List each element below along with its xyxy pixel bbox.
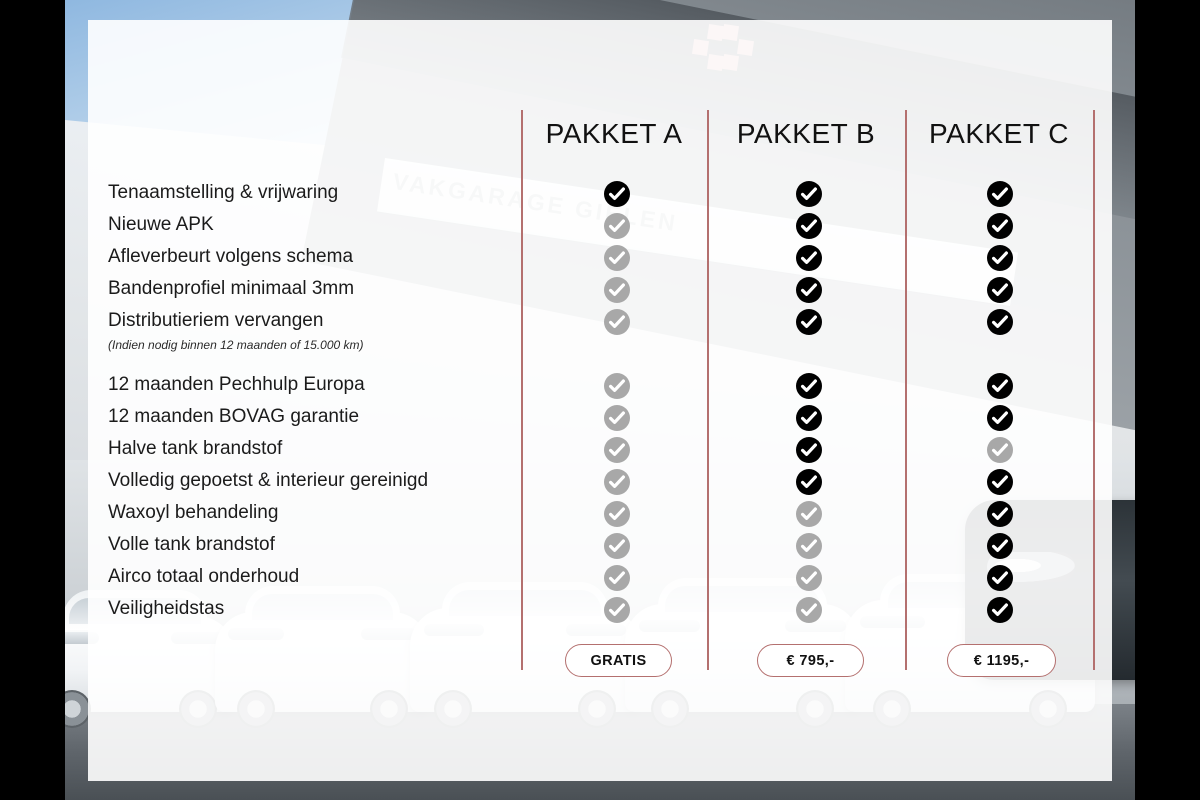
column-divider-4 xyxy=(1093,110,1095,670)
check-circle-icon xyxy=(604,373,630,399)
feature-label: 12 maanden Pechhulp Europa xyxy=(108,374,365,396)
feature-label: Waxoyl behandeling xyxy=(108,502,278,524)
check-circle-icon xyxy=(796,437,822,463)
feature-note: (Indien nodig binnen 12 maanden of 15.00… xyxy=(108,338,364,352)
check-circle-icon xyxy=(987,437,1013,463)
column-divider-3 xyxy=(905,110,907,670)
feature-label: Airco totaal onderhoud xyxy=(108,566,299,588)
feature-label: Veiligheidstas xyxy=(108,598,224,620)
feature-label: Nieuwe APK xyxy=(108,214,214,236)
check-circle-icon xyxy=(987,277,1013,303)
check-circle-icon xyxy=(987,533,1013,559)
letterbox-bar-left xyxy=(0,0,65,800)
check-circle-icon xyxy=(796,597,822,623)
feature-label: Afleverbeurt volgens schema xyxy=(108,246,353,268)
price-pill-b[interactable]: € 795,- xyxy=(757,644,864,677)
check-circle-icon xyxy=(796,277,822,303)
check-circle-icon xyxy=(796,213,822,239)
check-circle-icon xyxy=(987,181,1013,207)
check-circle-icon xyxy=(604,245,630,271)
feature-label: Tenaamstelling & vrijwaring xyxy=(108,182,338,204)
check-circle-icon xyxy=(604,533,630,559)
check-circle-icon xyxy=(796,501,822,527)
column-header-c: PAKKET C xyxy=(905,118,1093,150)
check-circle-icon xyxy=(987,309,1013,335)
price-pill-a[interactable]: GRATIS xyxy=(565,644,672,677)
check-circle-icon xyxy=(796,533,822,559)
check-circle-icon xyxy=(987,213,1013,239)
feature-label: Volledig gepoetst & interieur gereinigd xyxy=(108,470,428,492)
column-divider-2 xyxy=(707,110,709,670)
feature-label: Bandenprofiel minimaal 3mm xyxy=(108,278,354,300)
check-circle-icon xyxy=(796,373,822,399)
check-circle-icon xyxy=(604,565,630,591)
check-circle-icon xyxy=(987,501,1013,527)
price-pill-c[interactable]: € 1195,- xyxy=(947,644,1056,677)
check-circle-icon xyxy=(604,181,630,207)
check-circle-icon xyxy=(604,437,630,463)
check-circle-icon xyxy=(604,213,630,239)
check-circle-icon xyxy=(604,277,630,303)
check-circle-icon xyxy=(987,565,1013,591)
check-circle-icon xyxy=(604,469,630,495)
check-circle-icon xyxy=(604,597,630,623)
check-circle-icon xyxy=(796,245,822,271)
check-circle-icon xyxy=(987,405,1013,431)
check-circle-icon xyxy=(796,565,822,591)
check-circle-icon xyxy=(796,469,822,495)
check-circle-icon xyxy=(987,373,1013,399)
check-circle-icon xyxy=(604,309,630,335)
check-circle-icon xyxy=(987,597,1013,623)
column-header-b: PAKKET B xyxy=(707,118,905,150)
check-circle-icon xyxy=(604,501,630,527)
check-circle-icon xyxy=(604,405,630,431)
letterbox-bar-right xyxy=(1135,0,1200,800)
screenshot-stage: VAKGARAGE GIELEN xyxy=(0,0,1200,800)
feature-label: Distributieriem vervangen xyxy=(108,310,323,332)
column-divider-1 xyxy=(521,110,523,670)
feature-label: Halve tank brandstof xyxy=(108,438,282,460)
check-circle-icon xyxy=(796,309,822,335)
feature-label: 12 maanden BOVAG garantie xyxy=(108,406,359,428)
check-circle-icon xyxy=(796,181,822,207)
check-circle-icon xyxy=(987,469,1013,495)
check-circle-icon xyxy=(987,245,1013,271)
feature-label: Volle tank brandstof xyxy=(108,534,275,556)
column-header-a: PAKKET A xyxy=(521,118,707,150)
check-circle-icon xyxy=(796,405,822,431)
